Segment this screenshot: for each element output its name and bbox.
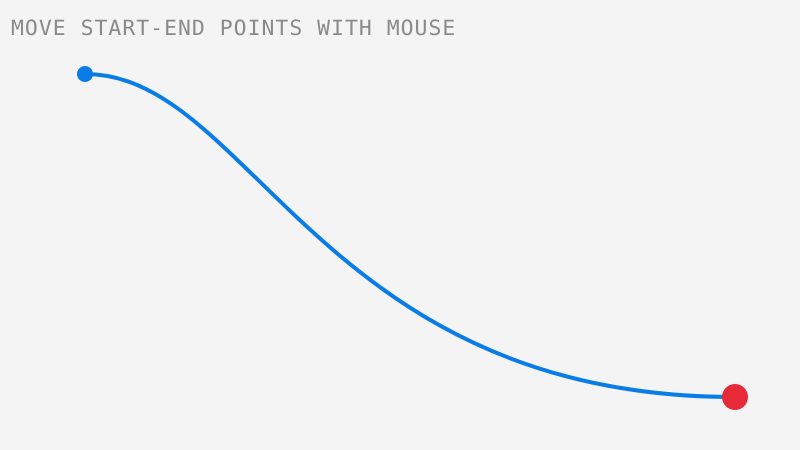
end-point-handle[interactable] xyxy=(722,384,748,410)
page-title: MOVE START-END POINTS WITH MOUSE xyxy=(11,16,456,40)
bezier-svg xyxy=(0,0,800,450)
bezier-canvas[interactable] xyxy=(0,0,800,450)
start-point-handle[interactable] xyxy=(77,66,93,82)
app-root: MOVE START-END POINTS WITH MOUSE xyxy=(0,0,800,450)
canvas-background xyxy=(0,0,800,450)
